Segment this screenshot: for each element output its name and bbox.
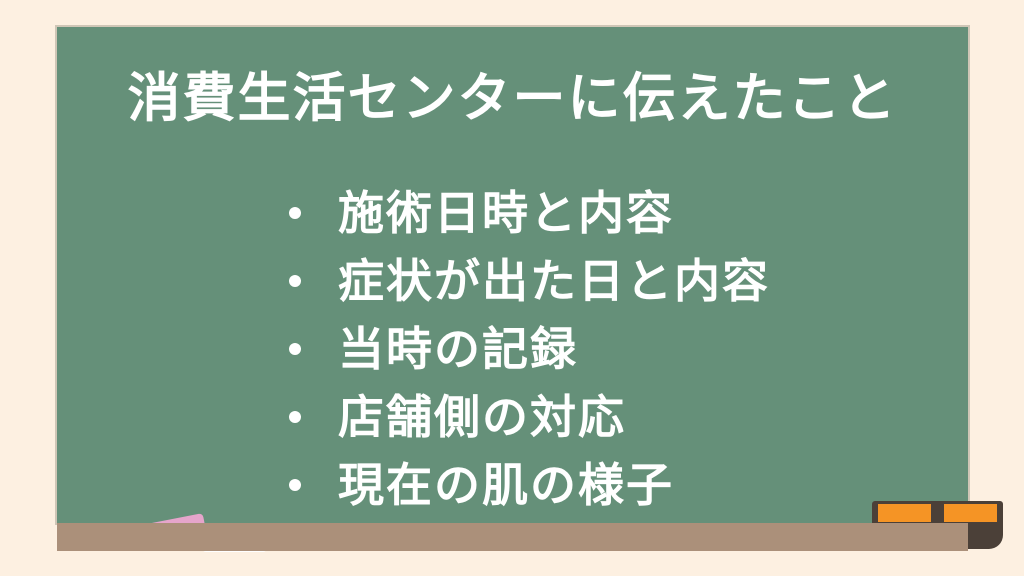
list-item-label: 症状が出た日と内容 (338, 258, 770, 304)
list-item: 当時の記録 (289, 315, 770, 383)
chalkboard: 消費生活センターに伝えたこと 施術日時と内容 症状が出た日と内容 当時の記録 店… (57, 27, 968, 523)
list-item: 現在の肌の様子 (289, 451, 770, 519)
eraser-felt-left (878, 504, 931, 522)
bullet-list: 施術日時と内容 症状が出た日と内容 当時の記録 店舗側の対応 現在の肌の様子 (289, 179, 770, 519)
list-item-label: 現在の肌の様子 (338, 462, 674, 508)
eraser-handle (931, 501, 944, 525)
bullet-dot-icon (289, 207, 301, 219)
list-item: 施術日時と内容 (289, 179, 770, 247)
bullet-dot-icon (289, 275, 301, 287)
bullet-dot-icon (289, 479, 301, 491)
slide-canvas: 消費生活センターに伝えたこと 施術日時と内容 症状が出た日と内容 当時の記録 店… (0, 0, 1024, 576)
list-item: 症状が出た日と内容 (289, 247, 770, 315)
eraser-felt-right (944, 504, 997, 522)
list-item-label: 施術日時と内容 (338, 190, 674, 236)
bullet-dot-icon (289, 411, 301, 423)
list-item-label: 当時の記録 (338, 326, 578, 372)
list-item: 店舗側の対応 (289, 383, 770, 451)
list-item-label: 店舗側の対応 (338, 394, 626, 440)
chalkboard-ledge (57, 523, 968, 551)
page-title: 消費生活センターに伝えたこと (57, 71, 968, 127)
bullet-dot-icon (289, 343, 301, 355)
